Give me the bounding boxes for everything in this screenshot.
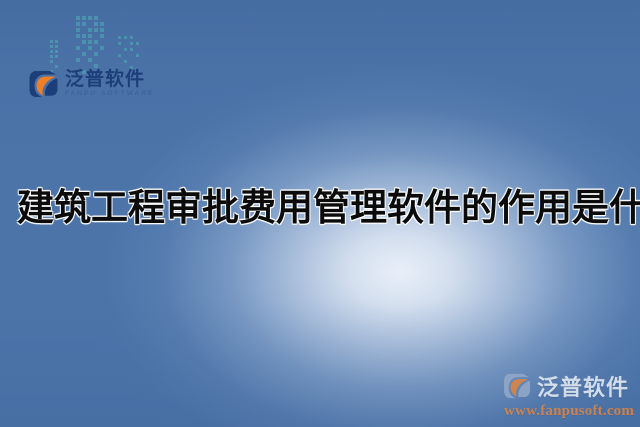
page-title: 建筑工程审批费用管理软件的作用是什么 [17, 186, 631, 230]
pixel-skyline-svg [48, 6, 148, 78]
fanpu-swoosh-logo-icon [503, 373, 532, 399]
watermark-logo: 泛普软件 www.fanpusoft.com [503, 370, 634, 420]
promo-banner: 泛普软件 FANPU SOFTWARE 建筑工程审批费用管理软件的作用是什么 泛… [0, 0, 640, 427]
brand-name-en: FANPU SOFTWARE [65, 91, 154, 98]
fanpu-swoosh-logo-svg [29, 70, 59, 98]
watermark-url: www.fanpusoft.com [504, 403, 634, 420]
watermark-row: 泛普软件 [503, 370, 634, 402]
brand-wordmark: 泛普软件 FANPU SOFTWARE [65, 70, 154, 98]
watermark-name-cn: 泛普软件 [537, 370, 629, 402]
fanpu-swoosh-watermark-svg [503, 373, 532, 399]
brand-name-cn: 泛普软件 [65, 70, 154, 89]
fanpu-swoosh-logo-icon [29, 70, 59, 98]
brand-logo-top: 泛普软件 FANPU SOFTWARE [29, 70, 154, 98]
pixel-skyline-icon [48, 6, 148, 78]
